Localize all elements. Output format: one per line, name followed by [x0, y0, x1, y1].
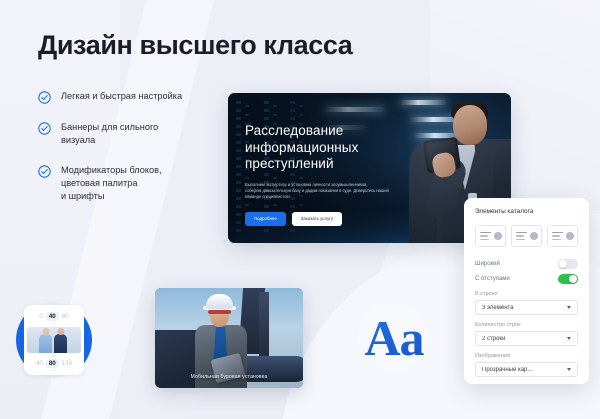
- chevron-down-icon: [567, 337, 571, 340]
- feature-item: Модификаторы блоков, цветовая палитра и …: [38, 164, 224, 203]
- toggle-switch-padding[interactable]: [558, 274, 578, 284]
- check-circle-icon: [38, 91, 51, 104]
- photo-caption: Мобильная буровая установка: [155, 374, 303, 380]
- worker-safety-glasses: [208, 310, 231, 314]
- card-lines-icon: [552, 232, 563, 241]
- drilling-rig-mast: [259, 292, 269, 356]
- picker-face: ⌃ 0 40 80 ⌄ ⌃ 40 80 130 ⌄: [24, 305, 84, 375]
- picker-bottom-spinner[interactable]: ⌃ 40 80 130 ⌄: [36, 355, 72, 372]
- select-items-per-row[interactable]: 3 элемента: [475, 300, 578, 315]
- select-row-count[interactable]: 2 строки: [475, 331, 578, 346]
- toggle-knob: [559, 260, 567, 268]
- field-label-row-count: Количество строк: [475, 322, 578, 328]
- worker-helmet: [206, 294, 233, 309]
- picker-value[interactable]: 0: [39, 313, 42, 320]
- chevron-down-icon[interactable]: ⌄: [52, 368, 55, 372]
- drilling-rig-photo-card[interactable]: Мобильная буровая установка: [155, 288, 303, 388]
- select-images[interactable]: Прозрачные кар...: [475, 362, 578, 377]
- card-lines-icon: [480, 232, 491, 241]
- field-row-count: Количество строк 2 строки: [475, 322, 578, 346]
- check-circle-icon: [38, 122, 51, 135]
- banner-button-group: Подробнее Заказать услугу: [245, 212, 411, 226]
- banner-title: Расследование информационных преступлени…: [245, 123, 411, 173]
- select-value-images: Прозрачные кар...: [482, 367, 532, 373]
- banner-description: Выполним экспертизу и установим личности…: [245, 182, 397, 201]
- chevron-down-icon: [567, 306, 571, 309]
- banner-primary-button[interactable]: Подробнее: [245, 212, 286, 226]
- toggle-label-wide: Широкий: [475, 261, 500, 267]
- check-circle-icon: [38, 165, 51, 178]
- feature-item: Легкая и быстрая настройка: [38, 90, 224, 104]
- feature-label: Модификаторы блоков, цветовая палитра и …: [61, 164, 162, 203]
- field-label-images: Изображения: [475, 353, 578, 359]
- feature-item: Баннеры для сильного визуала: [38, 121, 224, 147]
- field-label-items-per-row: В строке: [475, 291, 578, 297]
- picker-top-spinner[interactable]: ⌃ 0 40 80 ⌄: [39, 308, 68, 325]
- card-lines-icon: [516, 232, 527, 241]
- typography-card: Aa: [332, 296, 456, 380]
- card-thumb-icon: [494, 232, 502, 240]
- feature-label: Легкая и быстрая настройка: [61, 90, 182, 103]
- panel-title: Элементы каталога: [475, 208, 578, 215]
- select-value-row-count: 2 строки: [482, 336, 505, 342]
- layout-preset-3[interactable]: [547, 225, 578, 247]
- chevron-down-icon: [567, 368, 571, 371]
- toggle-knob: [569, 275, 577, 283]
- field-items-per-row: В строке 3 элемента: [475, 291, 578, 315]
- banner-content: Расследование информационных преступлени…: [245, 123, 411, 226]
- select-value-items-per-row: 3 элемента: [482, 305, 514, 311]
- picker-value[interactable]: 130: [62, 360, 72, 367]
- field-images: Изображения Прозрачные кар...: [475, 353, 578, 377]
- card-thumb-icon: [530, 232, 538, 240]
- card-thumb-icon: [566, 232, 574, 240]
- range-picker-widget[interactable]: ⌃ 0 40 80 ⌄ ⌃ 40 80 130 ⌄: [16, 302, 92, 378]
- picker-photo: [27, 327, 81, 353]
- toggle-label-padding: С отступами: [475, 276, 510, 282]
- toggle-row-wide[interactable]: Широкий: [475, 259, 578, 269]
- typography-sample: Aa: [332, 296, 456, 380]
- feature-label: Баннеры для сильного визуала: [61, 121, 158, 147]
- picker-value[interactable]: 40: [36, 360, 43, 367]
- layout-preset-group: [475, 225, 578, 247]
- banner-secondary-button[interactable]: Заказать услугу: [292, 212, 342, 226]
- photo-person: [39, 334, 52, 353]
- layout-preset-1[interactable]: [475, 225, 506, 247]
- photo-person: [54, 334, 67, 353]
- toggle-switch-wide[interactable]: [558, 259, 578, 269]
- catalog-settings-panel: Элементы каталога Широкий С отступами В …: [464, 198, 589, 384]
- page-title: Дизайн высшего класса: [38, 30, 352, 61]
- layout-preset-2[interactable]: [511, 225, 542, 247]
- feature-list: Легкая и быстрая настройка Баннеры для с…: [38, 90, 224, 220]
- picker-value[interactable]: 80: [62, 313, 69, 320]
- toggle-row-padding[interactable]: С отступами: [475, 274, 578, 284]
- chevron-down-icon[interactable]: ⌄: [52, 321, 55, 325]
